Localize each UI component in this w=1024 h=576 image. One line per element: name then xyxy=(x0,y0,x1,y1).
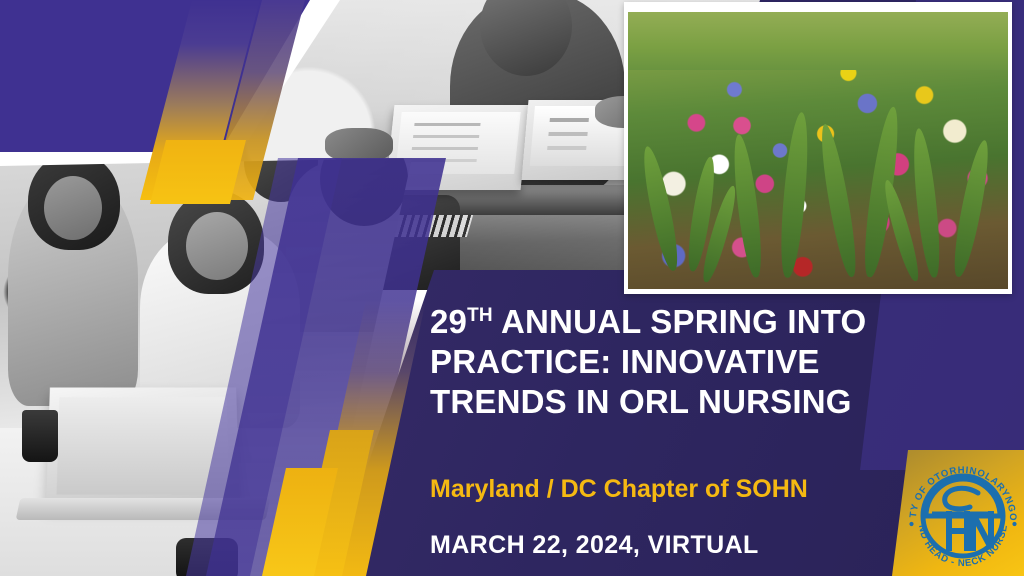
photo-hand-left xyxy=(325,128,393,162)
photo-woman-standing-face xyxy=(44,176,102,240)
spring-flowers-photo-frame xyxy=(624,2,1012,294)
sohn-seal-logo[interactable]: SOCIETY OF OTORHINOLARYNGOLOGY AND HEAD … xyxy=(902,452,1024,574)
title-ordinal-suffix: TH xyxy=(467,305,493,326)
photo-lawn xyxy=(628,12,1008,70)
photo-woman-center-face xyxy=(186,212,248,280)
spring-flowers-photo xyxy=(628,12,1008,289)
title-ordinal-number: 29 xyxy=(430,303,467,340)
photo-coffee-cup xyxy=(22,410,58,462)
event-date: MARCH 22, 2024, VIRTUAL xyxy=(430,530,950,560)
page-title: 29TH ANNUAL SPRING INTO PRACTICE: INNOVA… xyxy=(430,302,940,422)
conference-banner: 29TH ANNUAL SPRING INTO PRACTICE: INNOVA… xyxy=(0,0,1024,576)
title-rest: ANNUAL SPRING INTO PRACTICE: INNOVATIVE … xyxy=(430,303,866,420)
chapter-subtitle: Maryland / DC Chapter of SOHN xyxy=(430,474,950,504)
